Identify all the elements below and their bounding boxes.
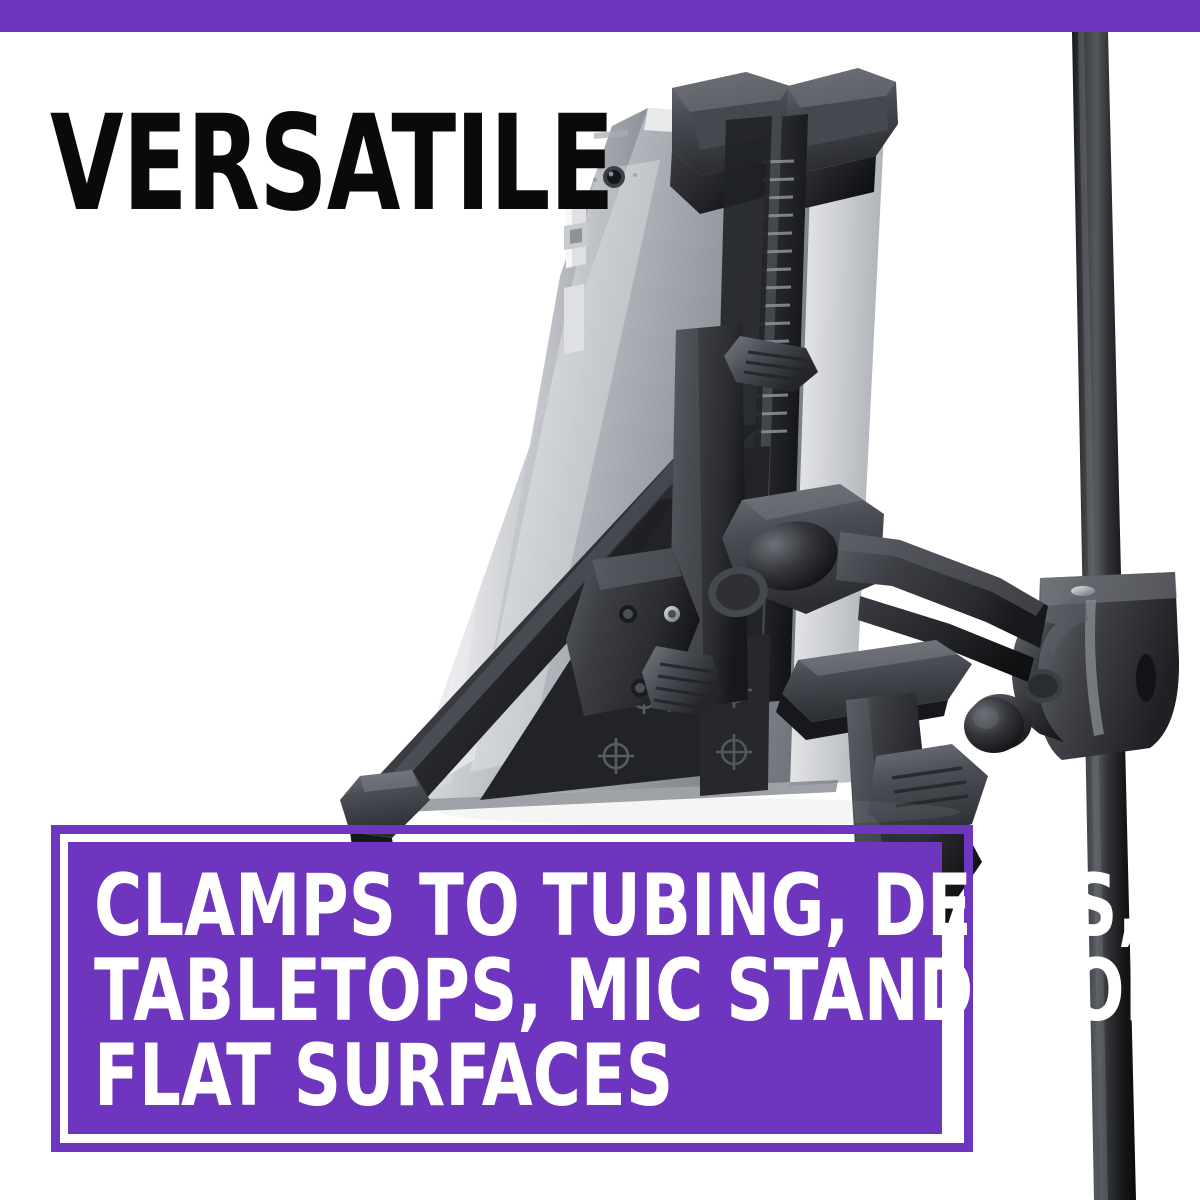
clamp-screw-knob	[964, 699, 1024, 753]
caption-panel: CLAMPS TO TUBING, DESKS, TABLETOPS, MIC …	[68, 842, 942, 1134]
page-title: VERSATILE	[50, 104, 614, 225]
top-accent-bar	[0, 0, 1200, 32]
caption-line-1: CLAMPS TO TUBING, DESKS,	[94, 864, 815, 949]
caption-line-2: TABLETOPS, MIC STANDS, OR	[94, 949, 815, 1034]
caption-line-3: FLAT SURFACES	[94, 1034, 815, 1119]
product-feature-poster: iPad	[0, 0, 1200, 1200]
